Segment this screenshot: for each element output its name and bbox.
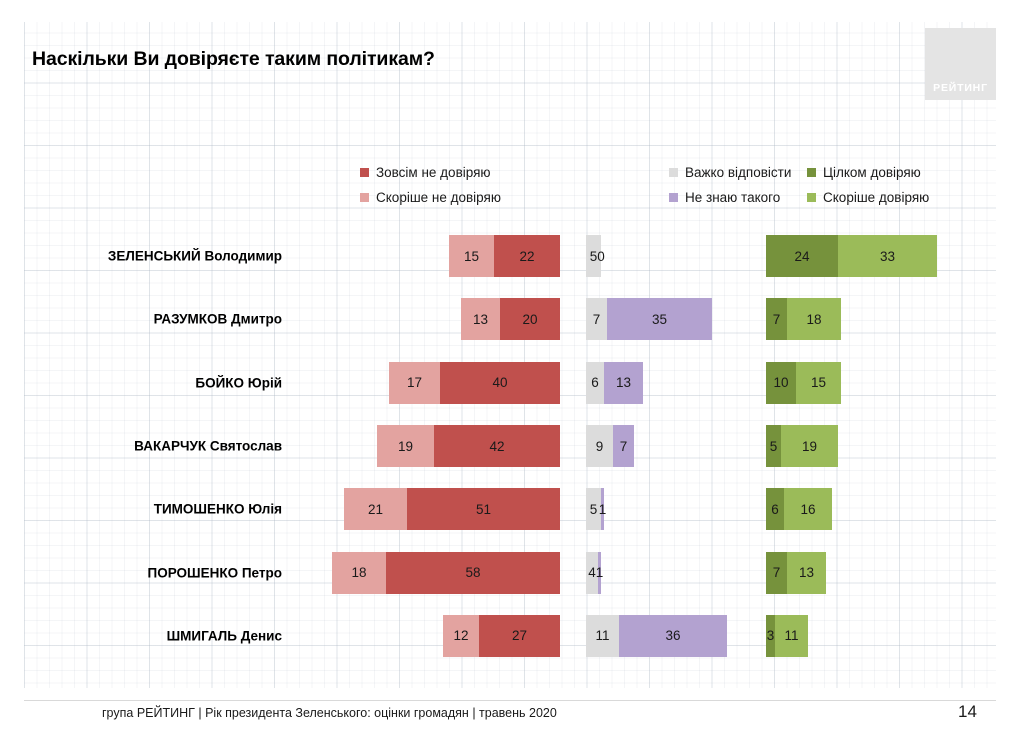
- bar-segment-trust-fully: 6: [766, 488, 784, 530]
- chart-row: ШМИГАЛЬ Денис12271136311: [0, 604, 1024, 667]
- chart-row: ТИМОШЕНКО Юлія215151616: [0, 478, 1024, 541]
- bar-segment-trust-rather: 13: [787, 552, 826, 594]
- category-label: ПОРОШЕНКО Петро: [148, 565, 282, 580]
- category-label: ТИМОШЕНКО Юлія: [154, 502, 282, 517]
- bar-segment-distrust-rather: 12: [443, 615, 479, 657]
- bar-segment-hard-to-answer: 11: [586, 615, 619, 657]
- category-label: БОЙКО Юрій: [195, 375, 282, 390]
- bar-value-label: 10: [773, 375, 788, 390]
- footer-note: група РЕЙТИНГ | Рік президента Зеленсько…: [102, 706, 557, 720]
- bar-segment-trust-rather: 18: [787, 298, 841, 340]
- bar-segment-trust-fully: 5: [766, 425, 781, 467]
- bar-value-label: 15: [811, 375, 826, 390]
- bar-segment-trust-rather: 11: [775, 615, 808, 657]
- bar-value-label: 40: [492, 375, 507, 390]
- bar-segment-hard-to-answer: 6: [586, 362, 604, 404]
- bar-segment-trust-fully: 3: [766, 615, 775, 657]
- category-label: РАЗУМКОВ Дмитро: [154, 312, 282, 327]
- bar-value-label: 13: [473, 312, 488, 327]
- bar-segment-distrust-fully: 51: [407, 488, 560, 530]
- bar-value-label: 7: [620, 439, 628, 454]
- bar-value-label: 21: [368, 502, 383, 517]
- bar-value-label: 4: [588, 565, 596, 580]
- bar-group-trust: 718: [766, 298, 841, 340]
- bar-value-label: 1: [599, 502, 607, 517]
- bar-segment-distrust-rather: 21: [344, 488, 407, 530]
- bar-segment-distrust-fully: 40: [440, 362, 560, 404]
- bar-group-trust: 1015: [766, 362, 841, 404]
- bar-value-label: 35: [652, 312, 667, 327]
- chart-row: ПОРОШЕНКО Петро185841713: [0, 541, 1024, 604]
- footer-divider: [24, 700, 996, 701]
- bar-segment-trust-rather: 33: [838, 235, 937, 277]
- bar-value-label: 3: [767, 628, 775, 643]
- bar-segment-distrust-rather: 15: [449, 235, 494, 277]
- bar-group-neutral: 51: [586, 488, 604, 530]
- bar-value-label: 24: [794, 249, 809, 264]
- bar-segment-distrust-rather: 13: [461, 298, 500, 340]
- bar-value-label: 9: [596, 439, 604, 454]
- bar-segment-dont-know-person: 1: [601, 488, 604, 530]
- bar-value-label: 11: [595, 628, 609, 643]
- bar-segment-trust-fully: 10: [766, 362, 796, 404]
- category-label: ШМИГАЛЬ Денис: [167, 628, 282, 643]
- bar-value-label: 27: [512, 628, 527, 643]
- bar-segment-distrust-rather: 18: [332, 552, 386, 594]
- bar-segment-trust-rather: 16: [784, 488, 832, 530]
- bar-value-label: 7: [773, 565, 781, 580]
- bar-segment-hard-to-answer: 9: [586, 425, 613, 467]
- chart-row: ВАКАРЧУК Святослав194297519: [0, 414, 1024, 477]
- bar-segment-distrust-rather: 19: [377, 425, 434, 467]
- bar-value-label: 58: [465, 565, 480, 580]
- bar-group-neutral: 97: [586, 425, 634, 467]
- bar-segment-distrust-fully: 42: [434, 425, 560, 467]
- bar-segment-dont-know-person: 36: [619, 615, 727, 657]
- bar-group-neutral: 41: [586, 552, 601, 594]
- bar-group-neutral: 1136: [586, 615, 727, 657]
- bar-value-label: 36: [665, 628, 680, 643]
- bar-group-neutral: 613: [586, 362, 643, 404]
- bar-group-distrust: 1320: [461, 298, 560, 340]
- chart-row: РАЗУМКОВ Дмитро1320735718: [0, 288, 1024, 351]
- bar-value-label: 0: [597, 249, 605, 264]
- bar-value-label: 6: [591, 375, 599, 390]
- bar-group-distrust: 1740: [389, 362, 560, 404]
- bar-segment-hard-to-answer: 7: [586, 298, 607, 340]
- chart-row: ЗЕЛЕНСЬКИЙ Володимир1522502433: [0, 225, 1024, 288]
- bar-segment-distrust-fully: 22: [494, 235, 560, 277]
- bar-group-distrust: 1227: [443, 615, 560, 657]
- bar-value-label: 6: [771, 502, 779, 517]
- category-label: ЗЕЛЕНСЬКИЙ Володимир: [108, 249, 282, 264]
- bar-group-trust: 2433: [766, 235, 937, 277]
- bar-value-label: 20: [522, 312, 537, 327]
- bar-segment-distrust-fully: 27: [479, 615, 560, 657]
- bar-segment-trust-fully: 7: [766, 552, 787, 594]
- bar-group-trust: 713: [766, 552, 826, 594]
- bar-group-distrust: 2151: [344, 488, 560, 530]
- bar-value-label: 33: [880, 249, 895, 264]
- bar-value-label: 19: [802, 439, 817, 454]
- bar-value-label: 17: [407, 375, 422, 390]
- bar-value-label: 13: [616, 375, 631, 390]
- bar-group-neutral: 735: [586, 298, 712, 340]
- bar-value-label: 11: [784, 628, 798, 643]
- bar-value-label: 5: [590, 249, 598, 264]
- bar-group-trust: 311: [766, 615, 808, 657]
- bar-value-label: 42: [489, 439, 504, 454]
- bar-group-neutral: 50: [586, 235, 601, 277]
- bar-group-trust: 519: [766, 425, 838, 467]
- bar-group-distrust: 1858: [332, 552, 560, 594]
- bar-value-label: 12: [453, 628, 468, 643]
- bar-value-label: 7: [593, 312, 601, 327]
- bar-value-label: 51: [476, 502, 491, 517]
- slide-footer: група РЕЙТИНГ | Рік президента Зеленсько…: [0, 706, 1024, 732]
- bar-value-label: 1: [596, 565, 604, 580]
- bar-segment-dont-know-person: 13: [604, 362, 643, 404]
- bar-value-label: 19: [398, 439, 413, 454]
- diverging-stacked-bar-chart: ЗЕЛЕНСЬКИЙ Володимир1522502433РАЗУМКОВ Д…: [0, 0, 1024, 732]
- bar-group-trust: 616: [766, 488, 832, 530]
- bar-segment-distrust-rather: 17: [389, 362, 440, 404]
- bar-value-label: 5: [770, 439, 778, 454]
- bar-value-label: 15: [464, 249, 479, 264]
- chart-row: БОЙКО Юрій17406131015: [0, 351, 1024, 414]
- category-label: ВАКАРЧУК Святослав: [134, 439, 282, 454]
- bar-value-label: 5: [590, 502, 598, 517]
- bar-segment-dont-know-person: 7: [613, 425, 634, 467]
- bar-group-distrust: 1522: [449, 235, 560, 277]
- bar-segment-distrust-fully: 58: [386, 552, 560, 594]
- bar-segment-dont-know-person: 35: [607, 298, 712, 340]
- bar-segment-trust-fully: 7: [766, 298, 787, 340]
- bar-value-label: 7: [773, 312, 781, 327]
- bar-value-label: 16: [800, 502, 815, 517]
- bar-segment-dont-know-person: 1: [598, 552, 601, 594]
- page-number: 14: [958, 702, 977, 722]
- bar-value-label: 18: [351, 565, 366, 580]
- bar-segment-trust-rather: 19: [781, 425, 838, 467]
- bar-segment-trust-rather: 15: [796, 362, 841, 404]
- bar-segment-distrust-fully: 20: [500, 298, 560, 340]
- bar-value-label: 18: [806, 312, 821, 327]
- bar-segment-trust-fully: 24: [766, 235, 838, 277]
- bar-group-distrust: 1942: [377, 425, 560, 467]
- bar-value-label: 13: [799, 565, 814, 580]
- bar-value-label: 22: [519, 249, 534, 264]
